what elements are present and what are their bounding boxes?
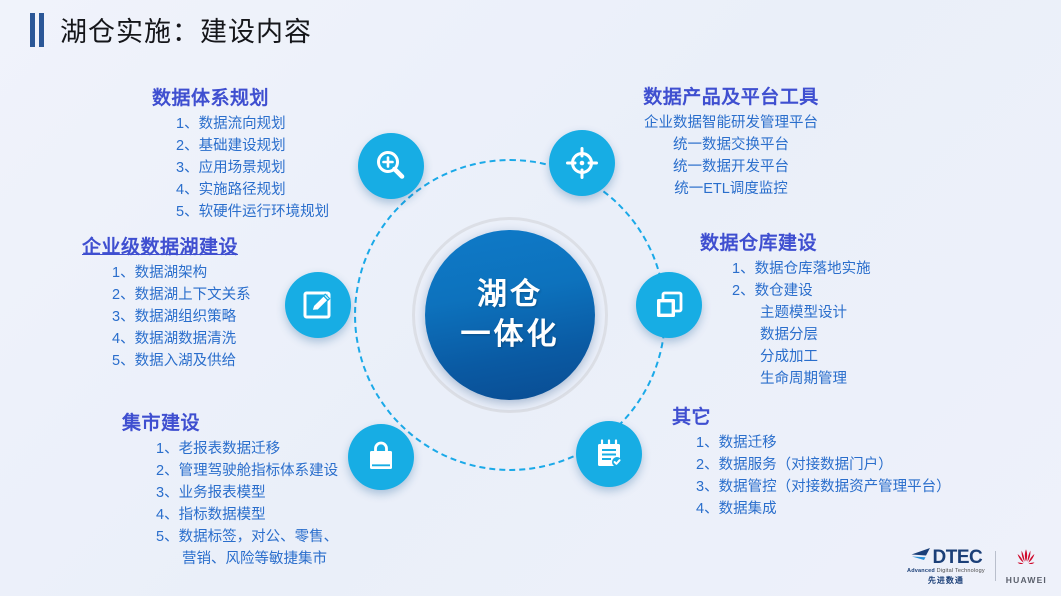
node-market[interactable] [348,424,414,490]
dtec-tagline-rest: Digital Technology [935,568,985,574]
logo-divider [995,551,996,581]
block-heading-data-system: 数据体系规划 [128,83,329,110]
list-item: 2、基础建设规划 [176,135,329,157]
shopping-bag-icon [364,440,398,474]
node-other[interactable] [576,421,642,487]
block-data-system: 数据体系规划 1、数据流向规划 2、基础建设规划 3、应用场景规划 4、实施路径… [128,83,329,223]
list-item: 2、管理驾驶舱指标体系建设 [156,460,338,482]
block-heading-product-platform: 数据产品及平台工具 [600,82,862,109]
copy-layers-icon [652,288,686,322]
list-item: 企业数据智能研发管理平台 [600,112,862,134]
node-data-warehouse[interactable] [636,272,702,338]
list-item: 3、数据管控（对接数据资产管理平台） [696,476,951,498]
block-heading-market: 集市建设 [122,408,338,435]
block-data-lake: 企业级数据湖建设 1、数据湖架构 2、数据湖上下文关系 3、数据湖组织策略 4、… [82,232,251,372]
dtec-logo: DTEC Advanced Digital Technology 先进数通 [907,547,985,585]
list-item: 1、数据流向规划 [176,113,329,135]
list-item: 2、数据服务（对接数据门户） [696,454,951,476]
node-data-system[interactable] [358,133,424,199]
block-list-market: 1、老报表数据迁移 2、管理驾驶舱指标体系建设 3、业务报表模型 4、指标数据模… [122,438,338,570]
block-list-other: 1、数据迁移 2、数据服务（对接数据门户） 3、数据管控（对接数据资产管理平台）… [672,432,951,520]
block-heading-data-lake: 企业级数据湖建设 [82,232,251,259]
list-item: 2、数仓建设 [732,280,871,302]
list-item: 4、数据湖数据清洗 [112,328,251,350]
huawei-flower-icon [1011,548,1041,574]
dtec-tagline: Advanced Digital Technology [907,569,985,575]
list-item: 2、数据湖上下文关系 [112,284,251,306]
block-list-product-platform: 企业数据智能研发管理平台 统一数据交换平台 统一数据开发平台 统一ETL调度监控 [600,112,862,200]
page-title: 湖仓实施：建设内容 [30,10,312,49]
core-circle: 湖仓 一体化 [425,230,595,400]
huawei-wordmark: HUAWEI [1006,576,1047,585]
list-item: 主题模型设计 [732,302,871,324]
block-market: 集市建设 1、老报表数据迁移 2、管理驾驶舱指标体系建设 3、业务报表模型 4、… [122,408,338,570]
block-other: 其它 1、数据迁移 2、数据服务（对接数据门户） 3、数据管控（对接数据资产管理… [672,402,951,520]
list-item: 4、数据集成 [696,498,951,520]
list-item: 1、数据仓库落地实施 [732,258,871,280]
block-heading-other: 其它 [672,402,951,429]
block-heading-data-warehouse: 数据仓库建设 [700,228,871,255]
list-item: 3、应用场景规划 [176,157,329,179]
title-accent-bars [30,12,44,48]
core-label-line1: 湖仓 [477,275,543,315]
list-item: 1、数据湖架构 [112,262,251,284]
page-title-text: 湖仓实施：建设内容 [60,10,312,49]
huawei-logo: HUAWEI [1006,548,1047,585]
footer-logos: DTEC Advanced Digital Technology 先进数通 [907,546,1047,586]
list-item: 4、实施路径规划 [176,179,329,201]
node-data-lake[interactable] [285,272,351,338]
block-list-data-warehouse: 1、数据仓库落地实施 2、数仓建设 主题模型设计 数据分层 分成加工 生命周期管… [700,258,871,390]
block-data-warehouse: 数据仓库建设 1、数据仓库落地实施 2、数仓建设 主题模型设计 数据分层 分成加… [700,228,871,390]
list-item: 5、软硬件运行环境规划 [176,201,329,223]
list-item: 营销、风险等敏捷集市 [156,548,338,570]
slide-canvas: 湖仓实施：建设内容 湖仓 一体化 [0,0,1061,596]
list-item: 5、数据标签，对公、零售、 [156,526,338,548]
checklist-notepad-icon [592,437,626,471]
dtec-wordmark: DTEC [933,548,983,567]
list-item: 3、数据湖组织策略 [112,306,251,328]
list-item: 3、业务报表模型 [156,482,338,504]
dtec-chinese-name: 先进数通 [928,577,964,585]
list-item: 分成加工 [732,346,871,368]
block-list-data-lake: 1、数据湖架构 2、数据湖上下文关系 3、数据湖组织策略 4、数据湖数据清洗 5… [82,262,251,372]
list-item: 统一数据开发平台 [600,156,862,178]
block-product-platform: 数据产品及平台工具 企业数据智能研发管理平台 统一数据交换平台 统一数据开发平台… [600,82,862,200]
list-item: 统一数据交换平台 [600,134,862,156]
block-list-data-system: 1、数据流向规划 2、基础建设规划 3、应用场景规划 4、实施路径规划 5、软硬… [128,113,329,223]
crosshair-target-icon [564,145,600,181]
magnifier-plus-icon [373,148,409,184]
core-label-line2: 一体化 [461,315,560,355]
list-item: 统一ETL调度监控 [600,178,862,200]
list-item: 数据分层 [732,324,871,346]
dtec-swoosh-icon [910,547,932,567]
dtec-tagline-bold: Advanced [907,568,935,574]
list-item: 5、数据入湖及供给 [112,350,251,372]
edit-square-icon [301,288,335,322]
list-item: 1、数据迁移 [696,432,951,454]
list-item: 4、指标数据模型 [156,504,338,526]
list-item: 1、老报表数据迁移 [156,438,338,460]
list-item: 生命周期管理 [732,368,871,390]
